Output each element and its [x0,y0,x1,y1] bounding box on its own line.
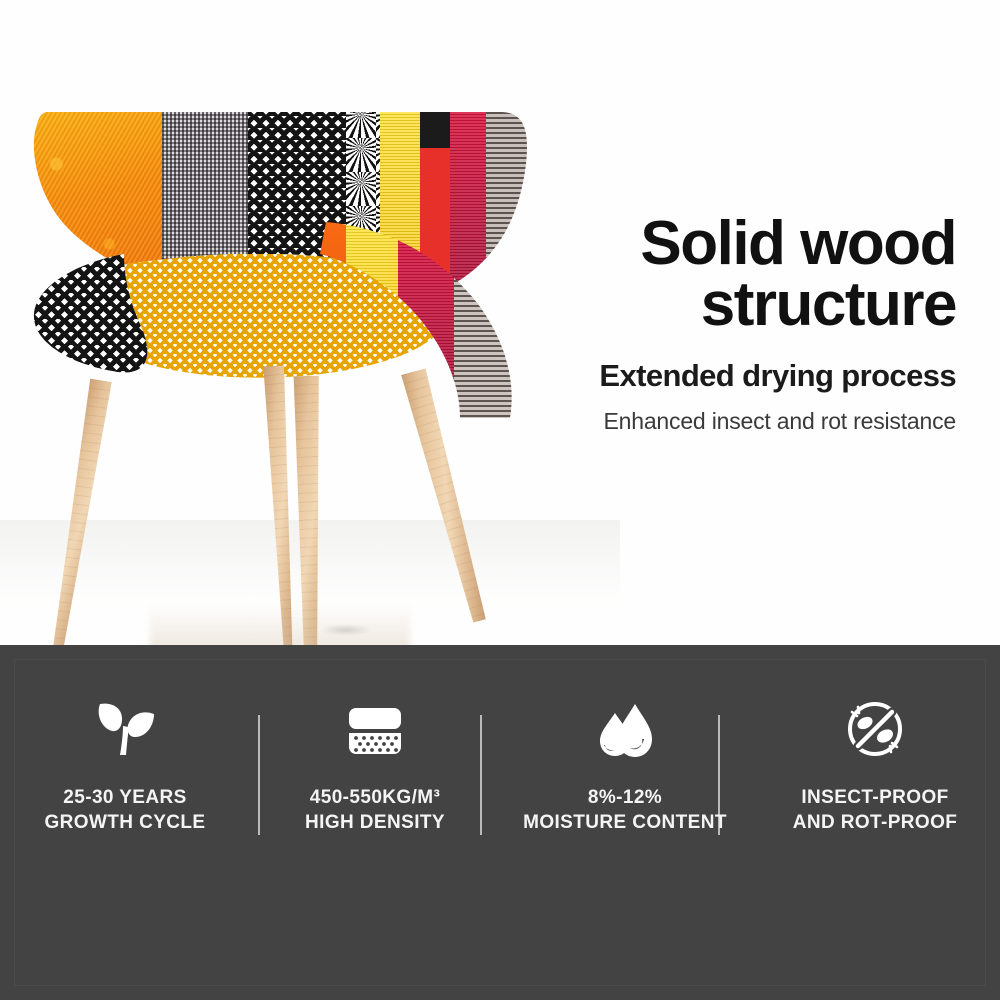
headline-line-2: structure [536,275,956,336]
water-droplets-icon [593,691,657,759]
foam-density-icon [344,691,406,759]
feature-caption: 25-30 YEARS GROWTH CYCLE [44,785,205,835]
feature-line-2: GROWTH CYCLE [44,810,205,835]
subheadline: Extended drying process [536,358,956,394]
hero-product-photo: Solid wood structure Extended drying pro… [0,0,1000,645]
feature-line-1: 8%-12% [523,785,727,810]
feature-list: 25-30 YEARS GROWTH CYCLE [0,691,1000,835]
patchwork-chair-image [0,104,550,624]
feature-line-1: 25-30 YEARS [44,785,205,810]
headline-line-1: Solid wood [536,214,956,275]
leaf-sprout-icon [92,691,158,759]
feature-caption: 450-550KG/M³ HIGH DENSITY [305,785,445,835]
page-title: Solid wood structure [536,214,956,336]
feature-high-density: 450-550KG/M³ HIGH DENSITY [250,691,500,835]
feature-growth-cycle: 25-30 YEARS GROWTH CYCLE [0,691,250,835]
feature-caption: 8%-12% MOISTURE CONTENT [523,785,727,835]
feature-insect-proof: INSECT-PROOF AND ROT-PROOF [750,691,1000,835]
feature-line-1: 450-550KG/M³ [305,785,445,810]
feature-moisture-content: 8%-12% MOISTURE CONTENT [500,691,750,835]
chair-leg-front-left [36,378,112,645]
product-feature-banner: Solid wood structure Extended drying pro… [0,0,1000,1000]
feature-line-2: HIGH DENSITY [305,810,445,835]
feature-bar: 25-30 YEARS GROWTH CYCLE [0,645,1000,1000]
description-text: Enhanced insect and rot resistance [536,408,956,435]
marketing-copy-block: Solid wood structure Extended drying pro… [536,214,956,435]
feature-line-2: MOISTURE CONTENT [523,810,727,835]
patch-crimson [450,104,486,304]
patch-grey-stripe [486,104,530,304]
feature-line-2: AND ROT-PROOF [793,810,958,835]
feature-line-1: INSECT-PROOF [793,785,958,810]
feature-caption: INSECT-PROOF AND ROT-PROOF [793,785,958,835]
floor-reflection [150,596,410,645]
no-insect-icon [844,691,906,759]
